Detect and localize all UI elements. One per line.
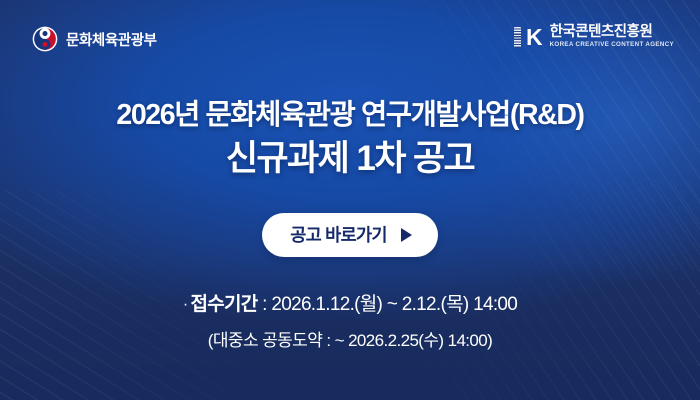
taeguk-icon (32, 26, 58, 52)
application-period-value: 2026.1.12.(월) ~ 2.12.(목) 14:00 (271, 294, 517, 315)
application-period-label: 접수기간 (190, 294, 257, 315)
kocca-logo[interactable]: K 한국콘텐츠진흥원 KOREA CREATIVE CONTENT AGENCY (514, 25, 674, 49)
headline-line-1: 2026년 문화체육관광 연구개발사업(R&D) (0, 98, 700, 132)
ministry-logo[interactable]: 문화체육관광부 (32, 26, 157, 52)
cta-container: 공고 바로가기 (0, 213, 700, 257)
dates-block: ·접수기간 : 2026.1.12.(월) ~ 2.12.(목) 14:00 (… (0, 292, 700, 353)
play-triangle-icon (401, 228, 412, 242)
kocca-label-ko: 한국콘텐츠진흥원 (550, 25, 674, 40)
bullet-icon: · (183, 296, 188, 313)
kocca-bar-icon (514, 27, 521, 48)
announcement-link-button[interactable]: 공고 바로가기 (262, 213, 438, 257)
joint-leap-period-line: (대중소 공동도약 : ~ 2026.2.25(수) 14:00) (0, 329, 700, 353)
kocca-k-icon: K (526, 27, 543, 48)
headline-line-2: 신규과제 1차 공고 (0, 137, 700, 181)
ministry-logo-label: 문화체육관광부 (66, 29, 157, 50)
application-period-separator: : (258, 294, 272, 315)
headline-block: 2026년 문화체육관광 연구개발사업(R&D) 신규과제 1차 공고 (0, 98, 700, 181)
announcement-banner: 문화체육관광부 K 한국콘텐츠진흥원 KOREA CREATIVE CONTEN… (0, 0, 700, 400)
cta-label: 공고 바로가기 (290, 222, 387, 247)
kocca-logo-text: 한국콘텐츠진흥원 KOREA CREATIVE CONTENT AGENCY (550, 25, 674, 49)
kocca-label-en: KOREA CREATIVE CONTENT AGENCY (550, 41, 674, 49)
application-period-line: ·접수기간 : 2026.1.12.(월) ~ 2.12.(목) 14:00 (0, 292, 700, 318)
